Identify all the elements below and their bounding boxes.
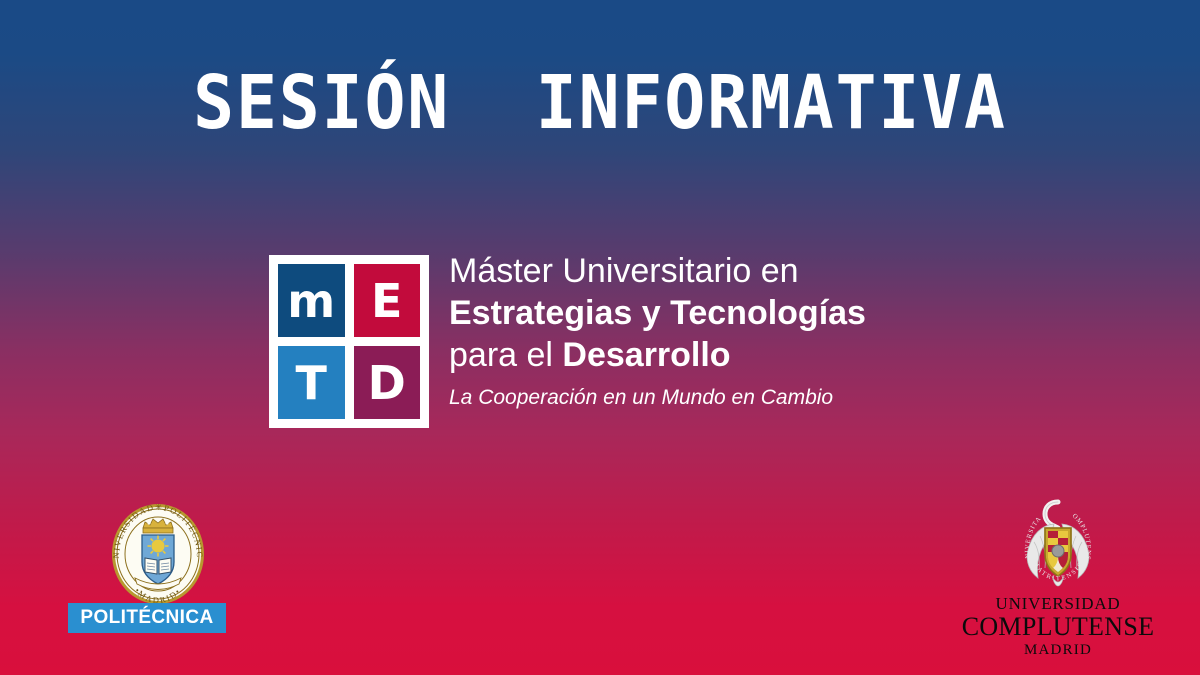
page-title: SESIÓN INFORMATIVA	[48, 66, 1152, 140]
ucm-logo: UNIVERSITAS COMPLUTENSIS MATRITENSIS UNI…	[960, 498, 1156, 646]
master-tagline: La Cooperación en un Mundo en Cambio	[449, 385, 1009, 411]
upm-banner-label: POLITÉCNICA	[68, 603, 226, 633]
ucm-emblem-icon: UNIVERSITAS COMPLUTENSIS MATRITENSIS	[1012, 498, 1104, 596]
metd-cell-m: m	[278, 264, 345, 337]
ucm-wordmark-line-2: COMPLUTENSE	[960, 613, 1156, 641]
master-line-1: Máster Universitario en	[449, 250, 1009, 292]
slide-canvas: SESIÓN INFORMATIVA m E T D Máster Univer…	[0, 0, 1200, 675]
master-line-3-plain: para el	[449, 336, 562, 374]
ucm-wordmark-line-3: MADRID	[960, 641, 1156, 659]
master-title-block: Máster Universitario en Estrategias y Te…	[449, 250, 1009, 411]
metd-cell-e: E	[354, 264, 421, 337]
ucm-wordmark: UNIVERSIDAD COMPLUTENSE MADRID	[960, 594, 1156, 659]
upm-seal-icon: UNIVERSIDAD✳POLITÉCNICA •MADRID•	[105, 502, 211, 606]
master-line-3: para el Desarrollo	[449, 334, 1009, 376]
ucm-wordmark-line-1: UNIVERSIDAD	[960, 594, 1156, 613]
master-line-3-bold: Desarrollo	[562, 336, 730, 374]
metd-cell-t: T	[278, 346, 345, 419]
master-line-2: Estrategias y Tecnologías	[449, 292, 1009, 334]
metd-logo: m E T D	[269, 255, 429, 428]
metd-cell-d: D	[354, 346, 421, 419]
upm-logo: UNIVERSIDAD✳POLITÉCNICA •MADRID•	[60, 500, 250, 640]
